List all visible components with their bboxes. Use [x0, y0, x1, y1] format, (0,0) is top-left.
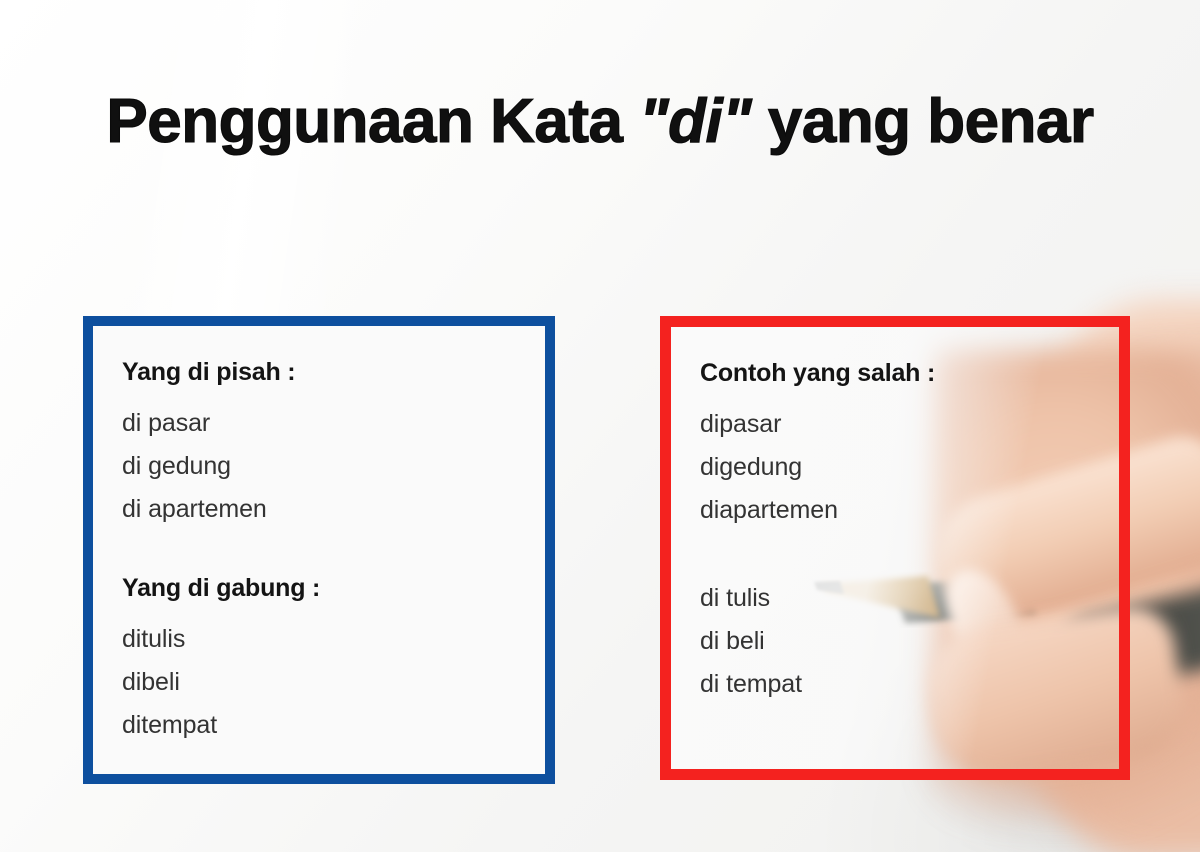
group-separator — [122, 531, 545, 576]
list-item: ditulis — [122, 618, 545, 661]
title-before: Penggunaan Kata — [106, 87, 639, 156]
list-item: dibeli — [122, 661, 545, 704]
heading-contoh-yang-salah: Contoh yang salah : — [700, 361, 1119, 386]
page-title: Penggunaan Kata "di" yang benar — [0, 78, 1200, 166]
list-item: ditempat — [122, 704, 545, 747]
title-after: yang benar — [751, 87, 1094, 156]
list-item: di tulis — [700, 577, 1119, 620]
wrong-examples-box: Contoh yang salah : dipasar digedung dia… — [660, 316, 1130, 780]
list-item: di gedung — [122, 445, 545, 488]
list-item: di beli — [700, 620, 1119, 663]
list-item: digedung — [700, 446, 1119, 489]
list-item: di pasar — [122, 402, 545, 445]
list-item: dipasar — [700, 403, 1119, 446]
title-quoted-di: "di" — [639, 87, 751, 156]
heading-yang-di-gabung: Yang di gabung : — [122, 576, 545, 601]
wrong-examples-content: Contoh yang salah : dipasar digedung dia… — [671, 327, 1119, 706]
correct-usage-box: Yang di pisah : di pasar di gedung di ap… — [83, 316, 555, 784]
list-item: di apartemen — [122, 488, 545, 531]
list-item: di tempat — [700, 663, 1119, 706]
heading-yang-di-pisah: Yang di pisah : — [122, 360, 545, 385]
correct-usage-content: Yang di pisah : di pasar di gedung di ap… — [93, 326, 545, 747]
list-item: diapartemen — [700, 489, 1119, 532]
group-separator — [700, 532, 1119, 577]
